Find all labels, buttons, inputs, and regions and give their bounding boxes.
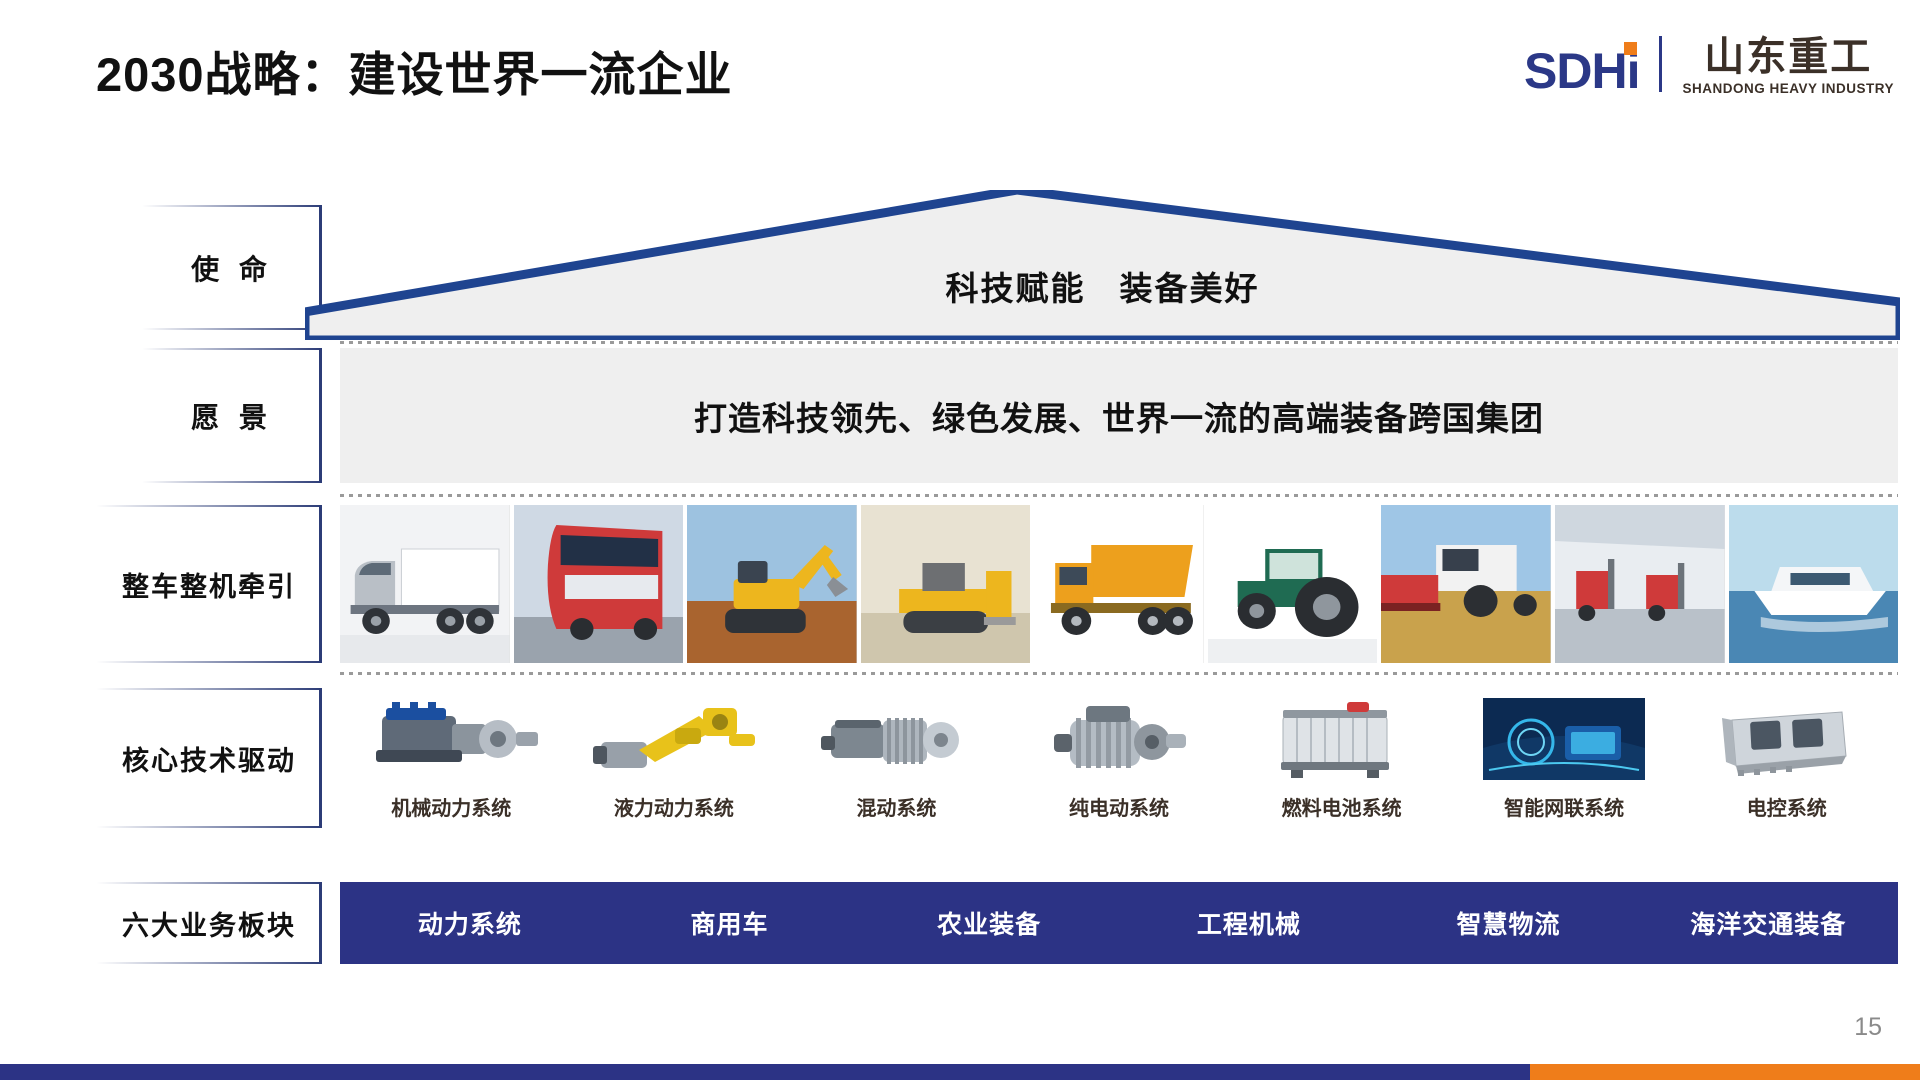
business-segment-power: 动力系统 (340, 905, 600, 941)
tech-item-fuel-cell: 燃料电池系统 (1230, 688, 1453, 828)
vision-band: 打造科技领先、绿色发展、世界一流的高端装备跨国集团 (340, 348, 1898, 483)
mission-text-1: 科技赋能 (946, 270, 1086, 307)
tech-label-fuel-cell: 燃料电池系统 (1282, 792, 1402, 821)
row-label-mission-text: 使 命 (191, 248, 273, 288)
row-label-vision-text: 愿 景 (191, 396, 273, 436)
row-label-business-text: 六大业务板块 (122, 904, 296, 943)
tech-label-mechanical-power: 机械动力系统 (391, 792, 511, 821)
company-logo: SDHi 山东重工 SHANDONG HEAVY INDUSTRY (1524, 36, 1894, 96)
row-label-core-tech-text: 核心技术驱动 (122, 739, 296, 778)
photo-excavator (687, 505, 857, 663)
row-label-mission: 使 命 (142, 205, 322, 330)
tech-label-ecu: 电控系统 (1747, 792, 1827, 821)
logo-divider (1659, 36, 1662, 92)
business-segment-agriculture: 农业装备 (859, 905, 1119, 941)
tech-item-ecu: 电控系统 (1675, 688, 1898, 828)
business-segment-marine: 海洋交通装备 (1638, 905, 1898, 941)
tech-item-mechanical-power: 机械动力系统 (340, 688, 563, 828)
sdhi-letters: SDHi (1524, 46, 1639, 96)
tech-label-hydraulic-power: 液力动力系统 (614, 792, 734, 821)
hydraulic-system-icon (563, 688, 786, 788)
diesel-engine-icon (340, 688, 563, 788)
mission-statement: 科技赋能装备美好 (305, 262, 1900, 310)
electric-motor-icon (1008, 688, 1231, 788)
photo-forklift-warehouse (1555, 505, 1725, 663)
divider-vehicles-tech (340, 672, 1898, 675)
ecu-module-icon (1675, 688, 1898, 788)
mission-roof-shape: 科技赋能装备美好 (305, 190, 1900, 340)
smart-cockpit-icon (1453, 688, 1676, 788)
footer-bars (0, 1064, 1920, 1080)
fuel-cell-icon (1230, 688, 1453, 788)
tech-label-hybrid: 混动系统 (856, 792, 936, 821)
mission-text-2: 装备美好 (1120, 270, 1260, 307)
photo-yacht (1729, 505, 1899, 663)
page-number: 15 (1854, 1013, 1882, 1042)
business-segment-commercial-vehicle: 商用车 (600, 905, 860, 941)
tech-item-pure-electric: 纯电动系统 (1008, 688, 1231, 828)
photo-combine-harvester (1381, 505, 1551, 663)
row-label-vehicles-text: 整车整机牵引 (122, 565, 296, 604)
photo-tractor (1208, 505, 1378, 663)
row-label-business: 六大业务板块 (96, 882, 322, 964)
logo-english-name: SHANDONG HEAVY INDUSTRY (1682, 81, 1894, 96)
orange-dot-icon (1624, 42, 1637, 55)
tech-label-smart-connected: 智能网联系统 (1504, 792, 1624, 821)
business-segment-construction: 工程机械 (1119, 905, 1379, 941)
photo-coach-bus (514, 505, 684, 663)
footer-bar-orange (1530, 1064, 1920, 1080)
vehicle-photo-strip (340, 505, 1898, 663)
tech-item-hybrid: 混动系统 (785, 688, 1008, 828)
logo-chinese-block: 山东重工 SHANDONG HEAVY INDUSTRY (1682, 36, 1894, 96)
sdhi-wordmark-icon: SDHi (1524, 46, 1639, 96)
tech-item-smart-connected: 智能网联系统 (1453, 688, 1676, 828)
divider-vision-vehicles (340, 494, 1898, 497)
tech-item-hydraulic-power: 液力动力系统 (563, 688, 786, 828)
page-title: 2030战略：建设世界一流企业 (96, 36, 733, 105)
row-label-vehicles: 整车整机牵引 (96, 505, 322, 663)
business-segment-logistics: 智慧物流 (1379, 905, 1639, 941)
photo-bulldozer (861, 505, 1031, 663)
tech-label-pure-electric: 纯电动系统 (1069, 792, 1169, 821)
photo-heavy-truck (340, 505, 510, 663)
row-label-core-tech: 核心技术驱动 (96, 688, 322, 828)
photo-mining-dump-truck (1034, 505, 1204, 663)
divider-mission-vision (340, 341, 1898, 344)
vision-statement: 打造科技领先、绿色发展、世界一流的高端装备跨国集团 (694, 392, 1544, 440)
business-segments-bar: 动力系统 商用车 农业装备 工程机械 智慧物流 海洋交通装备 (340, 882, 1898, 964)
footer-bar-blue (0, 1064, 1530, 1080)
row-label-vision: 愿 景 (142, 348, 322, 483)
core-tech-row: 机械动力系统 液力动力系统 (340, 688, 1898, 828)
hybrid-powertrain-icon (785, 688, 1008, 788)
logo-chinese-name: 山东重工 (1704, 36, 1872, 78)
